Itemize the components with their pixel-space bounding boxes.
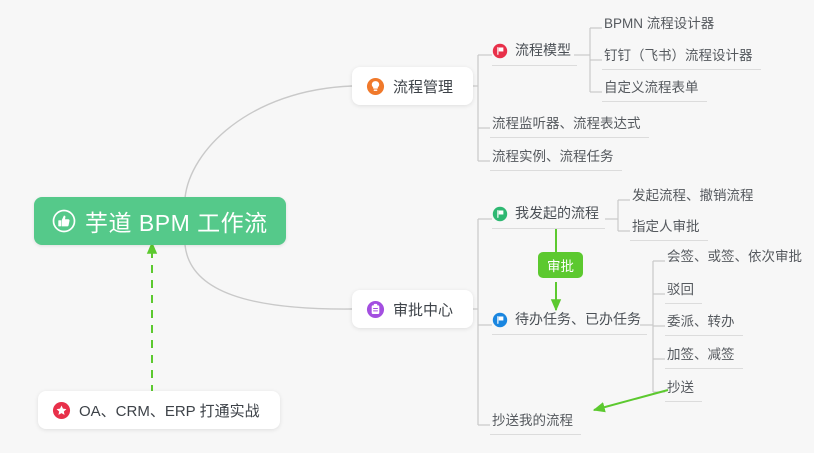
leaf-label: 抄送 <box>667 376 694 396</box>
flag-icon <box>492 206 508 223</box>
leaf-instance-task[interactable]: 流程实例、流程任务 <box>490 145 622 171</box>
node-process-model[interactable]: 流程模型 <box>492 40 577 66</box>
leaf-label: 加签、减签 <box>667 343 735 363</box>
approval-badge-label: 审批 <box>547 255 574 275</box>
leaf-label: BPMN 流程设计器 <box>604 12 714 32</box>
lightbulb-icon <box>366 77 385 96</box>
edge-root-to-process-management <box>185 86 352 198</box>
branch-label: 审批中心 <box>393 299 453 320</box>
branch-process-management[interactable]: 流程管理 <box>352 67 473 105</box>
leaf-dingtalk-designer[interactable]: 钉钉（飞书）流程设计器 <box>602 44 761 70</box>
integration-practice-label: OA、CRM、ERP 打通实战 <box>79 400 260 421</box>
node-my-started-process[interactable]: 我发起的流程 <box>492 203 605 229</box>
branch-approval-center[interactable]: 审批中心 <box>352 290 473 328</box>
leaf-listener-expression[interactable]: 流程监听器、流程表达式 <box>490 112 649 138</box>
leaf-label: 委派、转办 <box>667 310 735 330</box>
leaf-cc[interactable]: 抄送 <box>665 376 702 402</box>
leaf-label: 会签、或签、依次审批 <box>667 245 802 265</box>
leaf-assignee-approval[interactable]: 指定人审批 <box>630 215 708 241</box>
thumbs-up-icon <box>52 209 76 233</box>
leaf-start-cancel-process[interactable]: 发起流程、撤销流程 <box>630 184 762 209</box>
leaf-my-cc-process[interactable]: 抄送我的流程 <box>490 409 581 435</box>
star-icon <box>52 401 71 420</box>
leaf-label: 自定义流程表单 <box>604 76 699 96</box>
mindmap-canvas: 芋道 BPM 工作流 流程管理 流程模型 BPMN 流程设计器 钉钉（飞书）流程… <box>0 0 814 453</box>
leaf-label: 指定人审批 <box>632 215 700 235</box>
leaf-label: 发起流程、撤销流程 <box>632 184 754 204</box>
root-node[interactable]: 芋道 BPM 工作流 <box>34 197 286 245</box>
integration-practice-card[interactable]: OA、CRM、ERP 打通实战 <box>38 391 280 429</box>
leaf-label: 抄送我的流程 <box>492 409 573 429</box>
node-label: 流程模型 <box>515 40 571 60</box>
leaf-label: 流程监听器、流程表达式 <box>492 112 641 132</box>
leaf-label: 流程实例、流程任务 <box>492 145 614 165</box>
node-label: 待办任务、已办任务 <box>515 309 641 329</box>
leaf-add-remove-sign[interactable]: 加签、减签 <box>665 343 743 369</box>
leaf-custom-form[interactable]: 自定义流程表单 <box>602 76 707 102</box>
leaf-bpmn-designer[interactable]: BPMN 流程设计器 <box>602 12 722 37</box>
approval-badge: 审批 <box>538 252 583 278</box>
flag-icon <box>492 43 508 60</box>
node-label: 我发起的流程 <box>515 203 599 223</box>
leaf-label: 驳回 <box>667 278 694 298</box>
branch-label: 流程管理 <box>393 76 453 97</box>
leaf-reject[interactable]: 驳回 <box>665 278 702 304</box>
clipboard-icon <box>366 300 385 319</box>
leaf-label: 钉钉（飞书）流程设计器 <box>604 44 753 64</box>
node-todo-done-tasks[interactable]: 待办任务、已办任务 <box>492 309 647 335</box>
leaf-countersign-approval[interactable]: 会签、或签、依次审批 <box>665 245 810 270</box>
arrow-cc-to-my-cc-process <box>594 390 668 410</box>
leaf-delegate-transfer[interactable]: 委派、转办 <box>665 310 743 336</box>
root-label: 芋道 BPM 工作流 <box>85 204 268 238</box>
flag-icon <box>492 312 508 329</box>
edge-root-to-approval-center <box>185 245 352 309</box>
